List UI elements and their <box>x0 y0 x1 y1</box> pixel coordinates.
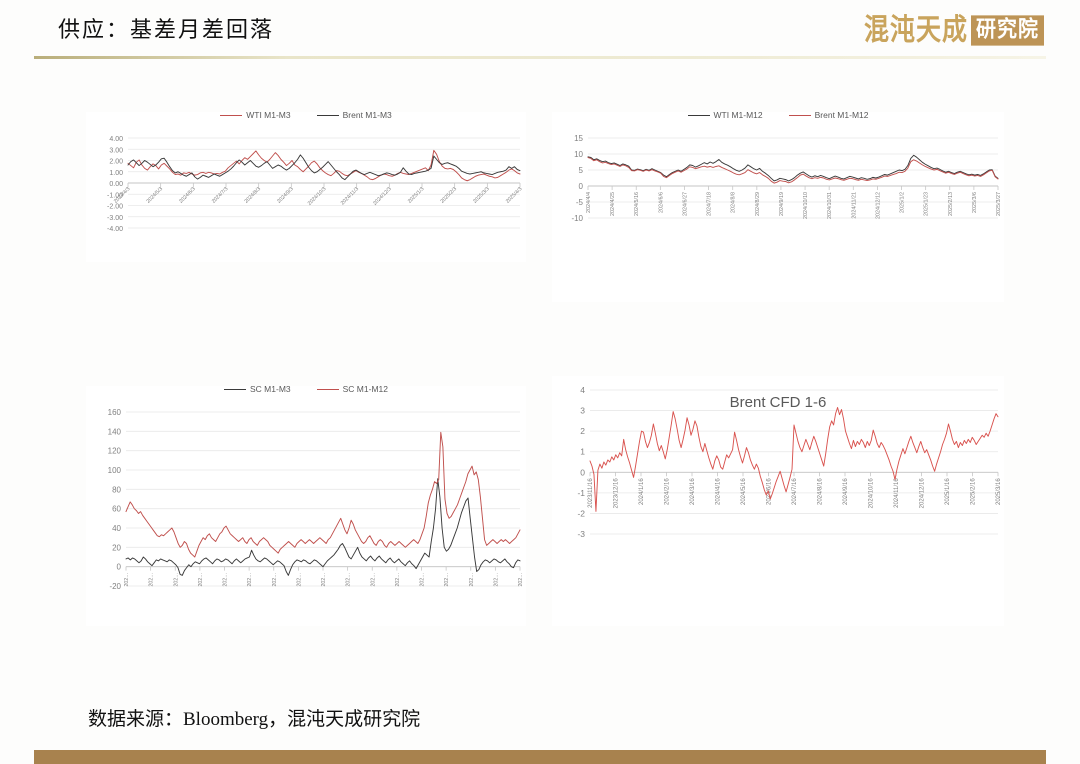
legend-swatch-icon <box>317 115 339 116</box>
x-axis-tick-label: 2025/1/23 <box>924 192 930 216</box>
y-axis-tick-label: -3.00 <box>107 215 123 222</box>
y-axis-tick-label: -10 <box>571 214 583 223</box>
series-line <box>128 155 520 180</box>
chart-wti-brent-m1m12: WTI M1-M12Brent M1-M12151050-5-102024/4/… <box>552 112 1004 302</box>
x-axis-tick-label: 202… <box>198 573 204 587</box>
x-axis-tick-label: 2024/12/3 <box>372 186 393 207</box>
x-axis-tick-label: 2024/7/18 <box>707 192 713 216</box>
legend-swatch-icon <box>220 115 242 116</box>
x-axis-tick-label: 2024/7/16 <box>792 478 798 505</box>
legend-item[interactable]: Brent M1-M12 <box>789 110 869 120</box>
y-axis-tick-label: 1 <box>580 447 585 457</box>
x-axis-tick-label: 2025/2/3 <box>440 186 459 205</box>
legend-item[interactable]: SC M1-M12 <box>317 384 388 394</box>
y-axis-tick-label: -5 <box>576 198 584 207</box>
legend-swatch-icon <box>317 389 339 390</box>
chart-legend: WTI M1-M12Brent M1-M12 <box>552 110 1004 120</box>
series-line <box>126 479 520 576</box>
chart-canvas: 4.003.002.001.000.00-1.00-2.00-3.00-4.00… <box>86 112 526 262</box>
logo-box-text: 研究院 <box>971 15 1044 45</box>
legend-item[interactable]: SC M1-M3 <box>224 384 291 394</box>
y-axis-tick-label: 140 <box>108 427 122 436</box>
x-axis-tick-label: 2025/3/3 <box>472 186 491 205</box>
y-axis-tick-label: 20 <box>112 543 121 552</box>
x-axis-tick-label: 2024/6/27 <box>682 192 688 216</box>
x-axis-tick-label: 2024/9/19 <box>779 192 785 216</box>
y-axis-tick-label: 1.00 <box>109 170 123 177</box>
x-axis-tick-label: 2024/9/3 <box>276 186 295 205</box>
x-axis-tick-label: 2025/1/2 <box>900 192 906 213</box>
y-axis-tick-label: 0 <box>117 563 122 572</box>
x-axis-tick-label: 2024/3/16 <box>690 478 696 505</box>
y-axis-tick-label: -2.00 <box>107 204 123 211</box>
x-axis-tick-label: 2024/10/3 <box>307 186 328 207</box>
y-axis-tick-label: 60 <box>112 505 121 514</box>
x-axis-tick-label: 2025/2/13 <box>948 192 954 216</box>
y-axis-tick-label: -1 <box>577 488 585 498</box>
y-axis-tick-label: 2 <box>580 426 585 436</box>
legend-label: Brent M1-M3 <box>343 110 392 120</box>
chart-brent-cfd-1-6: Brent CFD 1-643210-1-2-32023/11/162023/1… <box>552 376 1004 626</box>
slide-root: 供应：基差月差回落 混沌天成 研究院 WTI M1-M3Brent M1-M34… <box>0 0 1080 764</box>
x-axis-tick-label: 2024/11/3 <box>340 186 360 206</box>
slide-header: 供应：基差月差回落 混沌天成 研究院 <box>0 0 1080 58</box>
x-axis-tick-label: 202… <box>346 573 352 587</box>
legend-swatch-icon <box>224 389 246 390</box>
x-axis-tick-label: 2024/4/16 <box>716 478 722 505</box>
x-axis-tick-label: 202… <box>296 573 302 587</box>
x-axis-tick-label: 2024/12/12 <box>875 192 881 219</box>
x-axis-tick-label: 202… <box>444 573 450 587</box>
x-axis-tick-label: 2025/1/3 <box>407 186 426 205</box>
legend-item[interactable]: WTI M1-M3 <box>220 110 290 120</box>
x-axis-tick-label: 2024/12/16 <box>920 478 926 509</box>
y-axis-tick-label: 4.00 <box>109 136 123 143</box>
chart-canvas: 151050-5-102024/4/42024/4/252024/5/16202… <box>552 112 1004 302</box>
x-axis-tick-label: 2024/4/25 <box>610 192 616 216</box>
y-axis-tick-label: 5 <box>579 166 584 175</box>
x-axis-tick-label: 202… <box>493 573 499 587</box>
brand-logo: 混沌天成 研究院 <box>864 12 1044 48</box>
x-axis-tick-label: 2024/10/10 <box>803 192 809 219</box>
x-axis-tick-label: 2024/9/16 <box>843 478 849 505</box>
x-axis-tick-label: 202… <box>149 573 155 587</box>
y-axis-tick-label: 0 <box>580 467 585 477</box>
x-axis-tick-label: 202… <box>223 573 229 587</box>
x-axis-tick-label: 2024/8/8 <box>731 192 737 213</box>
legend-item[interactable]: Brent M1-M3 <box>317 110 392 120</box>
y-axis-tick-label: 15 <box>574 134 583 143</box>
x-axis-tick-label: 2025/2/16 <box>971 478 977 505</box>
x-axis-tick-label: 2024/8/16 <box>818 478 824 505</box>
x-axis-tick-label: 202… <box>124 573 130 587</box>
x-axis-tick-label: 2024/5/16 <box>741 478 747 505</box>
chart-title: Brent CFD 1-6 <box>552 394 1004 411</box>
x-axis-tick-label: 202… <box>247 573 253 587</box>
x-axis-tick-label: 2023/12/16 <box>614 478 620 509</box>
x-axis-tick-label: 2024/8/29 <box>755 192 761 216</box>
x-axis-tick-label: 2025/3/6 <box>972 192 978 213</box>
y-axis-tick-label: 120 <box>108 447 122 456</box>
page-title: 供应：基差月差回落 <box>58 12 274 44</box>
x-axis-tick-label: 2024/10/31 <box>827 192 833 219</box>
y-axis-tick-label: 160 <box>108 408 122 417</box>
x-axis-tick-label: 2024/1/16 <box>639 478 645 505</box>
x-axis-tick-label: 202… <box>173 573 179 587</box>
y-axis-tick-label: 2.00 <box>109 159 123 166</box>
x-axis-tick-label: 2024/11/21 <box>851 192 857 219</box>
header-divider <box>34 56 1046 59</box>
x-axis-tick-label: 2024/10/16 <box>869 478 875 509</box>
series-line <box>588 155 998 181</box>
y-axis-tick-label: 0 <box>579 182 584 191</box>
x-axis-tick-label: 2023/11/16 <box>588 478 594 508</box>
x-axis-tick-label: 2025/3/16 <box>996 478 1002 505</box>
footer-bar <box>34 750 1046 764</box>
y-axis-tick-label: 10 <box>574 150 583 159</box>
y-axis-tick-label: 0.00 <box>109 181 123 188</box>
y-axis-tick-label: 100 <box>108 466 122 475</box>
legend-label: WTI M1-M12 <box>714 110 763 120</box>
legend-label: SC M1-M3 <box>250 384 291 394</box>
x-axis-tick-label: 202… <box>518 573 524 587</box>
y-axis-tick-label: -3 <box>577 529 585 539</box>
x-axis-tick-label: 2024/7/3 <box>211 186 230 205</box>
y-axis-tick-label: -2 <box>577 508 585 518</box>
logo-seal-text: 混沌天成 <box>864 15 968 45</box>
x-axis-tick-label: 2024/6/6 <box>658 192 664 213</box>
y-axis-tick-label: 80 <box>112 485 121 494</box>
chart-sc-m1m3-m1m12: SC M1-M3SC M1-M12160140120100806040200-2… <box>86 386 526 626</box>
x-axis-tick-label: 2024/2/16 <box>665 478 671 505</box>
y-axis-tick-label: -4.00 <box>107 226 123 233</box>
chart-legend: WTI M1-M3Brent M1-M3 <box>86 110 526 120</box>
legend-label: SC M1-M12 <box>343 384 388 394</box>
x-axis-tick-label: 2024/5/3 <box>146 186 165 205</box>
x-axis-tick-label: 2024/4/4 <box>586 192 592 213</box>
x-axis-tick-label: 2024/11/16 <box>894 478 900 508</box>
x-axis-tick-label: 202… <box>420 573 426 587</box>
y-axis-tick-label: 40 <box>112 524 121 533</box>
legend-item[interactable]: WTI M1-M12 <box>688 110 763 120</box>
x-axis-tick-label: 2025/4/3 <box>505 186 524 205</box>
legend-label: WTI M1-M3 <box>246 110 290 120</box>
y-axis-tick-label: 3.00 <box>109 147 123 154</box>
x-axis-tick-label: 202… <box>272 573 278 587</box>
x-axis-tick-label: 2024/6/16 <box>767 478 773 505</box>
y-axis-tick-label: -20 <box>109 582 121 591</box>
chart-canvas: 160140120100806040200-20202…202…202…202…… <box>86 386 526 626</box>
legend-swatch-icon <box>688 115 710 116</box>
chart-canvas: 43210-1-2-32023/11/162023/12/162024/1/16… <box>552 376 1004 626</box>
x-axis-tick-label: 2024/8/3 <box>244 186 263 205</box>
x-axis-tick-label: 2025/3/27 <box>996 192 1002 216</box>
x-axis-tick-label: 202… <box>370 573 376 587</box>
legend-label: Brent M1-M12 <box>815 110 869 120</box>
x-axis-tick-label: 202… <box>321 573 327 587</box>
x-axis-tick-label: 2025/1/16 <box>945 478 951 505</box>
legend-swatch-icon <box>789 115 811 116</box>
chart-legend: SC M1-M3SC M1-M12 <box>86 384 526 394</box>
x-axis-tick-label: 2024/6/3 <box>178 186 197 205</box>
x-axis-tick-label: 202… <box>395 573 401 587</box>
x-axis-tick-label: 2024/5/16 <box>634 192 640 216</box>
chart-wti-brent-m1m3: WTI M1-M3Brent M1-M34.003.002.001.000.00… <box>86 112 526 262</box>
data-source-note: 数据来源：Bloomberg，混沌天成研究院 <box>88 704 420 731</box>
x-axis-tick-label: 202… <box>469 573 475 587</box>
